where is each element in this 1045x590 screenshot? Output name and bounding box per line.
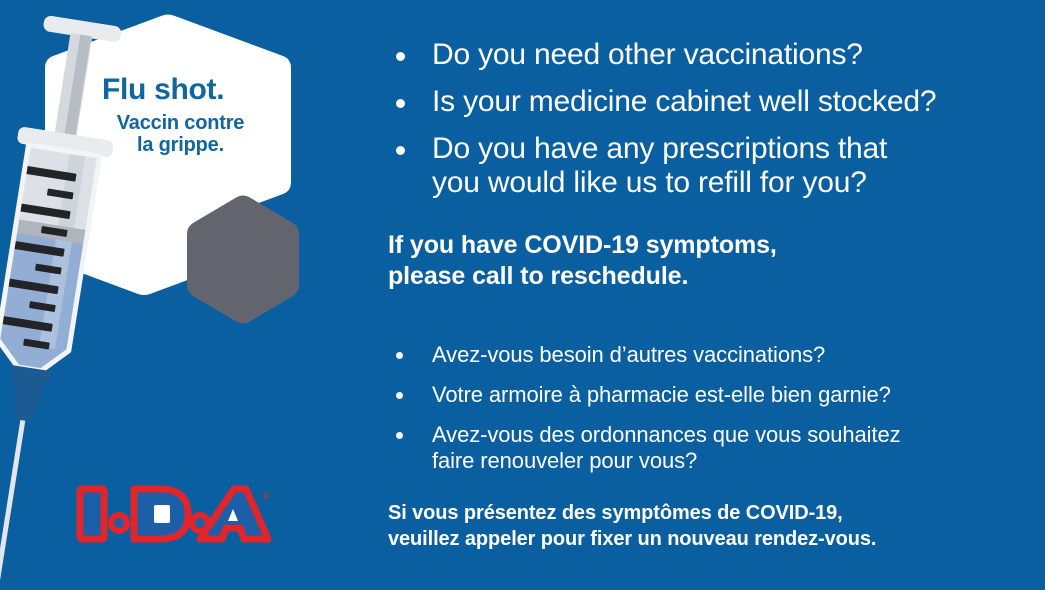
english-bullet-list: Do you need other vaccinations? Is your … [388,38,1028,213]
ida-letter-i [80,489,104,539]
list-item: Is your medicine cabinet well stocked? [388,85,1028,120]
bullet-text: Avez-vous besoin d’autres vaccinations? [432,342,825,367]
ida-trademark-symbol: ® [262,491,270,502]
bullet-dot-icon [396,99,405,108]
content-column: Do you need other vaccinations? Is your … [388,0,1038,590]
bullet-text: Is your medicine cabinet well stocked? [432,85,936,118]
flu-shot-banner: Flu shot. Vaccin contre la grippe. [0,0,1045,590]
list-item: Do you need other vaccinations? [388,38,1028,73]
bullet-text-line2: you would like us to refill for you? [432,166,1028,201]
bullet-text-line2: faire renouveler pour vous? [432,448,1028,474]
french-covid-note-line1: Si vous présentez des symptômes de COVID… [388,500,1028,526]
bullet-dot-icon [396,432,403,439]
french-covid-note: Si vous présentez des symptômes de COVID… [388,500,1028,552]
ida-separator-dot-1 [111,515,127,531]
bullet-text: Do you need other vaccinations? [432,38,863,71]
english-covid-note: If you have COVID-19 symptoms, please ca… [388,230,1028,293]
badge-headline-en: Flu shot. [102,74,283,106]
list-item: Votre armoire à pharmacie est-elle bien … [388,382,1028,408]
bullet-text-line1: Avez-vous des ordonnances que vous souha… [432,422,1028,448]
badge-headline-fr-line1: Vaccin contre [78,112,283,134]
bullet-dot-icon [396,392,403,399]
badge-text-block: Flu shot. Vaccin contre la grippe. [78,74,283,156]
bullet-text: Votre armoire à pharmacie est-elle bien … [432,382,891,407]
badge-headline-fr-line2: la grippe. [78,134,283,156]
bullet-text-line1: Do you have any prescriptions that [432,132,1028,167]
french-covid-note-line2: veuillez appeler pour fixer un nouveau r… [388,526,1028,552]
ida-letter-d [134,489,188,539]
ida-letter-a [200,489,268,539]
illustration-area: Flu shot. Vaccin contre la grippe. [0,0,360,590]
list-item: Avez-vous besoin d’autres vaccinations? [388,342,1028,368]
list-item: Do you have any prescriptions that you w… [388,132,1028,202]
ida-logo: ® [76,483,271,545]
bullet-dot-icon [396,352,403,359]
french-bullet-list: Avez-vous besoin d’autres vaccinations? … [388,342,1028,488]
bullet-dot-icon [396,146,405,155]
needle-hub [8,377,46,423]
list-item: Avez-vous des ordonnances que vous souha… [388,422,1028,474]
badge-headline-fr: Vaccin contre la grippe. [78,112,283,157]
bullet-dot-icon [396,52,405,61]
needle [0,420,25,590]
english-covid-note-line2: please call to reschedule. [388,261,1028,292]
english-covid-note-line1: If you have COVID-19 symptoms, [388,230,1028,261]
ida-logo-glyphs: ® [80,489,270,539]
